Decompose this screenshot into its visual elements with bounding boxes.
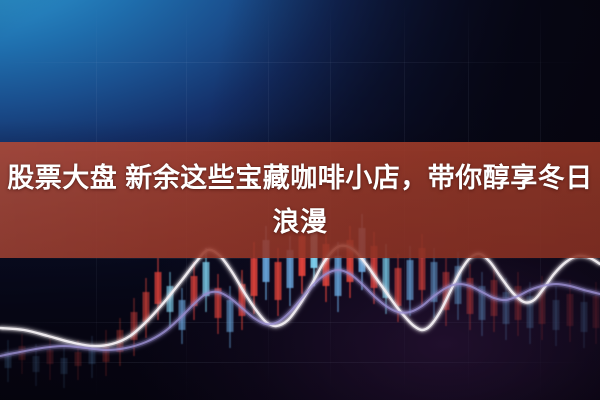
candle-body xyxy=(593,296,600,328)
candle-body xyxy=(251,258,258,296)
candle-body xyxy=(47,350,54,364)
candle-body xyxy=(33,356,40,372)
candle-body xyxy=(335,256,342,296)
headline-line-1: 股票大盘 新余这些宝藏咖啡小店，带你醇享冬日 xyxy=(7,163,593,193)
headline-text: 股票大盘 新余这些宝藏咖啡小店，带你醇享冬日 浪漫 xyxy=(0,156,600,244)
headline-line-2: 浪漫 xyxy=(6,200,594,244)
banner-image: 股票大盘 新余这些宝藏咖啡小店，带你醇享冬日 浪漫 xyxy=(0,0,600,400)
candle-body xyxy=(553,300,560,330)
candle-body xyxy=(61,358,68,374)
candle-body xyxy=(503,292,510,324)
candle-body xyxy=(515,286,522,320)
candle-body xyxy=(395,268,402,306)
candle-body xyxy=(75,352,82,366)
candle-body xyxy=(581,302,588,332)
candle-body xyxy=(275,262,282,300)
ma-line-glow xyxy=(0,270,600,356)
ma-line xyxy=(0,270,600,356)
candle-body xyxy=(407,260,414,300)
candle-body xyxy=(227,300,234,332)
candle-body xyxy=(567,294,574,326)
headline-banner: 股票大盘 新余这些宝藏咖啡小店，带你醇享冬日 浪漫 xyxy=(0,142,600,258)
candle-body xyxy=(155,272,162,304)
